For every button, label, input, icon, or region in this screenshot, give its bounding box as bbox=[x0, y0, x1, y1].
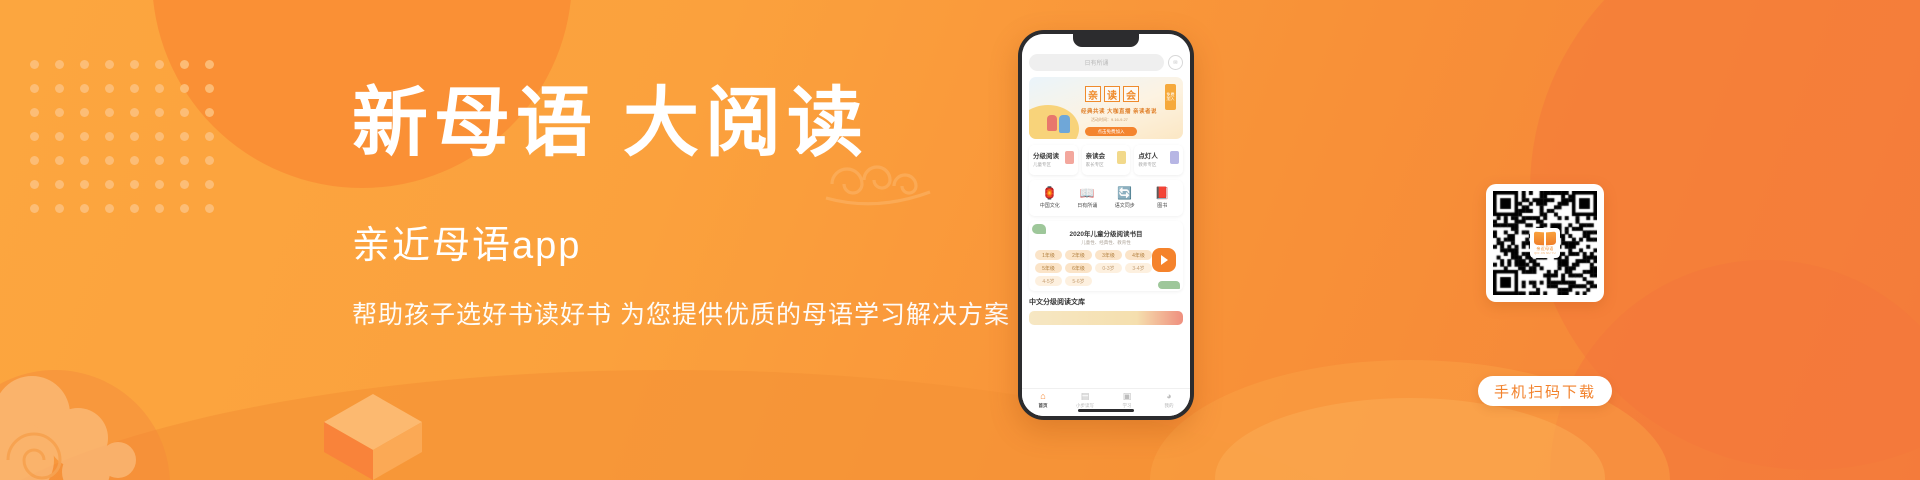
quick-icon-label: 图书 bbox=[1144, 202, 1182, 209]
age-chip[interactable]: 3-4岁 bbox=[1125, 263, 1152, 273]
play-icon[interactable] bbox=[1152, 248, 1176, 272]
promo-tag: 免费加入 bbox=[1165, 84, 1176, 110]
category-card-icon bbox=[1170, 151, 1179, 164]
quick-icon-label: 日有所诵 bbox=[1069, 202, 1107, 209]
china-culture-icon: 🏮 bbox=[1031, 187, 1069, 199]
decor-cloud-bottom-left bbox=[0, 368, 170, 480]
grade-chip[interactable]: 5年级 bbox=[1035, 263, 1062, 273]
leaf-decor-icon bbox=[1158, 281, 1180, 289]
category-card-icon bbox=[1117, 151, 1126, 164]
quick-icon-item[interactable]: 🔄语文同步 bbox=[1106, 187, 1144, 209]
booklist-card[interactable]: 2020年儿童分级阅读书目 儿童性、经典性、教育性 1年级2年级3年级4年级5年… bbox=[1029, 221, 1183, 291]
grade-chip[interactable]: 3年级 bbox=[1095, 250, 1122, 260]
category-cards: 分级阅读儿童专区亲读会家长专区点灯人教师专区 bbox=[1029, 145, 1183, 175]
quick-icon-label: 语文同步 bbox=[1106, 202, 1144, 209]
tab-label: 学习 bbox=[1106, 403, 1148, 409]
daily-recite-icon: 📖 bbox=[1069, 187, 1107, 199]
promo-date: 活动时间：9.16-9.27 bbox=[1091, 117, 1128, 123]
tab-icon: ◕ bbox=[1148, 392, 1190, 401]
qr-center-logo: 亲近母语 QIN JIN MU YU bbox=[1530, 228, 1560, 258]
grade-chip[interactable]: 4年级 bbox=[1125, 250, 1152, 260]
promo-subtitle: 经典共读 大咖直播 亲读者说 bbox=[1081, 107, 1157, 115]
tab-我的[interactable]: ◕我的 bbox=[1148, 392, 1190, 409]
category-card[interactable]: 分级阅读儿童专区 bbox=[1029, 145, 1078, 175]
phone-notch bbox=[1073, 34, 1139, 47]
tab-label: 我的 bbox=[1148, 403, 1190, 409]
phone-screen-frame: 日有所诵 ✉ 亲 读 会 免费加入 经典共读 大咖直播 亲读者说 活动时间：9.… bbox=[1022, 34, 1190, 416]
tab-icon: ▤ bbox=[1064, 392, 1106, 401]
decor-dot-grid bbox=[30, 60, 230, 228]
app-search-row: 日有所诵 ✉ bbox=[1029, 54, 1183, 71]
promo-banner: 新母语 大阅读 亲近母语app 帮助孩子选好书读好书 为您提供优质的母语学习解决… bbox=[0, 0, 1920, 480]
age-chip[interactable]: 4-5岁 bbox=[1035, 276, 1062, 286]
banner-subtitle: 亲近母语app bbox=[352, 214, 1052, 269]
leaf-decor-icon bbox=[1032, 224, 1046, 234]
promo-title: 亲 读 会 bbox=[1085, 86, 1139, 102]
grade-chip[interactable]: 2年级 bbox=[1065, 250, 1092, 260]
promo-title-char: 读 bbox=[1104, 86, 1120, 102]
phone-home-indicator bbox=[1078, 409, 1134, 412]
quick-icon-item[interactable]: 📕图书 bbox=[1144, 187, 1182, 209]
qr-code-block: 亲近母语 QIN JIN MU YU bbox=[1486, 184, 1604, 302]
promo-title-char: 会 bbox=[1123, 86, 1139, 102]
category-card-icon bbox=[1065, 151, 1074, 164]
qr-code-card: 亲近母语 QIN JIN MU YU bbox=[1486, 184, 1604, 302]
books-icon: 📕 bbox=[1144, 187, 1182, 199]
grade-chip[interactable]: 1年级 bbox=[1035, 250, 1062, 260]
library-banner[interactable] bbox=[1029, 311, 1183, 325]
quick-icon-item[interactable]: 🏮中国文化 bbox=[1031, 187, 1069, 209]
banner-description: 帮助孩子选好书读好书 为您提供优质的母语学习解决方案 bbox=[352, 295, 1052, 331]
grade-chip[interactable]: 6年级 bbox=[1065, 263, 1092, 273]
tab-label: 小步读写 bbox=[1064, 403, 1106, 409]
quick-icon-label: 中国文化 bbox=[1031, 202, 1069, 209]
booklist-title: 2020年儿童分级阅读书目 bbox=[1035, 228, 1177, 238]
decor-cube bbox=[318, 388, 428, 480]
category-card[interactable]: 点灯人教师专区 bbox=[1134, 145, 1183, 175]
age-chip[interactable]: 0-3岁 bbox=[1095, 263, 1122, 273]
promo-card[interactable]: 亲 读 会 免费加入 经典共读 大咖直播 亲读者说 活动时间：9.16-9.27… bbox=[1029, 77, 1183, 139]
age-chip[interactable]: 5-6岁 bbox=[1065, 276, 1092, 286]
promo-cta-button[interactable]: 点击免费加入 bbox=[1085, 127, 1137, 136]
banner-headline: 新母语 大阅读 bbox=[352, 86, 1052, 162]
message-icon[interactable]: ✉ bbox=[1168, 55, 1183, 70]
tab-小步读写[interactable]: ▤小步读写 bbox=[1064, 392, 1106, 409]
download-button[interactable]: 手机扫码下载 bbox=[1478, 376, 1612, 406]
booklist-subtitle: 儿童性、经典性、教育性 bbox=[1035, 240, 1177, 246]
app-screen: 日有所诵 ✉ 亲 读 会 免费加入 经典共读 大咖直播 亲读者说 活动时间：9.… bbox=[1022, 34, 1190, 416]
promo-kid-decor-2 bbox=[1059, 115, 1070, 133]
tab-label: 首页 bbox=[1022, 403, 1064, 409]
category-card[interactable]: 亲读会家长专区 bbox=[1082, 145, 1131, 175]
banner-text-block: 新母语 大阅读 亲近母语app 帮助孩子选好书读好书 为您提供优质的母语学习解决… bbox=[352, 86, 1052, 331]
grade-chip-group: 1年级2年级3年级4年级5年级6年级0-3岁3-4岁4-5岁5-6岁 bbox=[1035, 250, 1153, 286]
sync-lesson-icon: 🔄 bbox=[1106, 187, 1144, 199]
library-title: 中文分级阅读文库 bbox=[1029, 297, 1183, 307]
quick-icon-row: 🏮中国文化📖日有所诵🔄语文同步📕图书 bbox=[1029, 180, 1183, 216]
book-logo-icon bbox=[1534, 232, 1556, 245]
tab-首页[interactable]: ⌂首页 bbox=[1022, 392, 1064, 409]
promo-kid-decor-1 bbox=[1047, 115, 1057, 131]
tab-icon: ⌂ bbox=[1022, 392, 1064, 401]
tab-icon: ▣ bbox=[1106, 392, 1148, 401]
tab-学习[interactable]: ▣学习 bbox=[1106, 392, 1148, 409]
quick-icon-item[interactable]: 📖日有所诵 bbox=[1069, 187, 1107, 209]
qr-logo-en: QIN JIN MU YU bbox=[1534, 252, 1556, 255]
phone-mockup: 日有所诵 ✉ 亲 读 会 免费加入 经典共读 大咖直播 亲读者说 活动时间：9.… bbox=[1018, 30, 1194, 420]
promo-title-char: 亲 bbox=[1085, 86, 1101, 102]
search-input[interactable]: 日有所诵 bbox=[1029, 54, 1164, 71]
